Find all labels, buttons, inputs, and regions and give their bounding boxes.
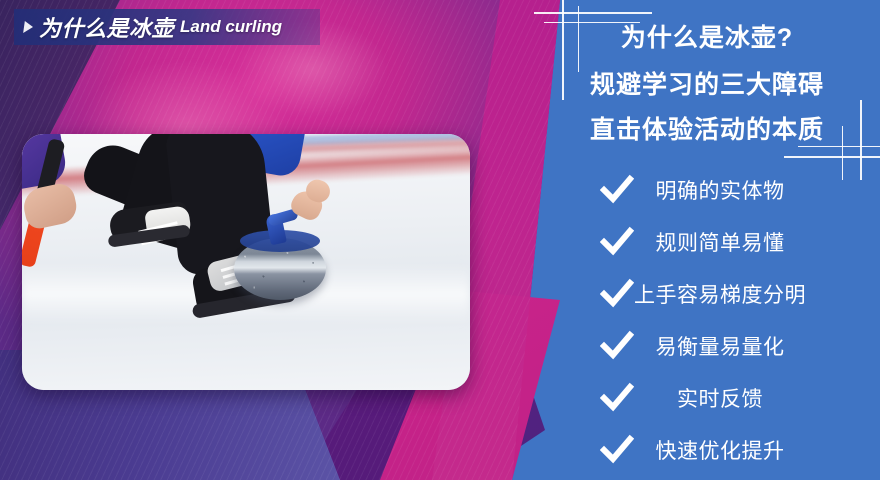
check-icon [600, 329, 634, 363]
check-icon [600, 225, 634, 259]
check-icon [600, 277, 634, 311]
curling-photo-card [22, 134, 470, 390]
list-item[interactable]: 易衡量易量化 [534, 320, 880, 372]
headline-block: 为什么是冰壶? 规避学习的三大障碍 直击体验活动的本质 [534, 18, 880, 155]
check-icon [600, 433, 634, 467]
list-item[interactable]: 实时反馈 [534, 372, 880, 424]
headline-line-2: 规避学习的三大障碍 [534, 65, 880, 101]
headline-line-3: 直击体验活动的本质 [534, 110, 880, 146]
list-item-label: 明确的实体物 [534, 175, 880, 205]
title-ribbon: 为什么是冰壶 Land curling [14, 9, 320, 45]
check-icon [600, 173, 634, 207]
list-item-label: 实时反馈 [534, 383, 880, 413]
check-icon [600, 381, 634, 415]
benefits-checklist: 明确的实体物 规则简单易懂 上手容易梯度分明 易衡量易量化 实时反馈 [534, 164, 880, 476]
list-item-label: 规则简单易懂 [534, 227, 880, 257]
list-item-label: 易衡量易量化 [534, 331, 880, 361]
list-item[interactable]: 规则简单易懂 [534, 216, 880, 268]
ribbon-title-cn: 为什么是冰壶 [39, 11, 174, 43]
play-triangle-icon [23, 21, 34, 33]
ribbon-title-en: Land curling [180, 17, 282, 37]
slide-canvas: 为什么是冰壶 Land curling [0, 0, 880, 480]
list-item-label: 上手容易梯度分明 [534, 279, 880, 309]
list-item[interactable]: 快速优化提升 [534, 424, 880, 476]
headline-line-1: 为什么是冰壶? [534, 18, 880, 54]
list-item-label: 快速优化提升 [534, 435, 880, 465]
list-item[interactable]: 明确的实体物 [534, 164, 880, 216]
list-item[interactable]: 上手容易梯度分明 [534, 268, 880, 320]
